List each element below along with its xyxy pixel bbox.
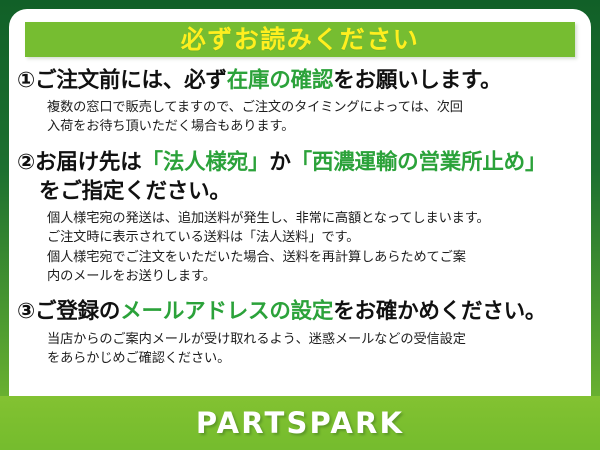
notice-item-2-heading: ②お届け先は「法人様宛」か「西濃運輸の営業所止め」 — [17, 148, 583, 177]
notice-item-2-heading-highlight-1: 「法人様宛」 — [142, 150, 270, 175]
notice-item-3-body-line-2: をあらかじめご確認ください。 — [47, 349, 583, 368]
notice-item-3-heading-part-1: ご登録の — [35, 299, 120, 324]
notice-item-3: ③ご登録のメールアドレスの設定をお確かめください。 当店からのご案内メールが受け… — [17, 297, 583, 368]
notice-item-2-heading-part-1: お届け先は — [35, 150, 142, 175]
notice-item-3-body: 当店からのご案内メールが受け取れるよう、迷惑メールなどの受信設定 をあらかじめご… — [17, 327, 583, 369]
notice-item-1-heading-highlight: 在庫の確認 — [227, 68, 334, 93]
notice-item-1-heading: ①ご注文前には、必ず在庫の確認をお願いします。 — [17, 66, 583, 95]
notice-item-3-heading: ③ご登録のメールアドレスの設定をお確かめください。 — [17, 297, 583, 326]
notice-item-2-heading-highlight-2: 「西濃運輸の営業所止め」 — [291, 150, 547, 175]
notice-item-2-body-line-2: ご注文時に表示されている送料は「法人送料」です。 — [47, 228, 583, 247]
header-bar: 必ずお読みください — [25, 22, 575, 57]
notice-item-1-body: 複数の窓口で販売してますので、ご注文のタイミングによっては、次回 入荷をお待ち頂… — [17, 95, 583, 137]
notice-item-2-body-line-1: 個人様宅宛の発送は、追加送料が発生し、非常に高額となってしまいます。 — [47, 209, 583, 228]
notice-card: 必ずお読みください ①ご注文前には、必ず在庫の確認をお願いします。 複数の窓口で… — [0, 0, 600, 450]
notice-item-1-body-line-2: 入荷をお待ち頂いただく場合もあります。 — [47, 117, 583, 136]
notice-item-3-body-line-1: 当店からのご案内メールが受け取れるよう、迷惑メールなどの受信設定 — [47, 330, 583, 349]
notice-item-3-marker: ③ — [17, 299, 35, 324]
notice-item-2-body-line-3: 個人様宅宛でご注文をいただいた場合、送料を再計算しあらためてご案 — [47, 248, 583, 267]
notice-item-3-heading-part-3: をお確かめください。 — [333, 299, 546, 324]
notice-item-1: ①ご注文前には、必ず在庫の確認をお願いします。 複数の窓口で販売してますので、ご… — [17, 66, 583, 137]
notice-item-1-body-line-1: 複数の窓口で販売してますので、ご注文のタイミングによっては、次回 — [47, 98, 583, 117]
notice-item-2-body: 個人様宅宛の発送は、追加送料が発生し、非常に高額となってしまいます。 ご注文時に… — [17, 206, 583, 287]
notice-item-1-heading-part-1: ご注文前には、必ず — [35, 68, 227, 93]
notice-item-2-heading-line-2: をご指定ください。 — [17, 177, 583, 206]
page-title: 必ずお読みください — [181, 27, 420, 52]
notice-body: ①ご注文前には、必ず在庫の確認をお願いします。 複数の窓口で販売してますので、ご… — [9, 64, 591, 370]
inner-white-panel: 必ずお読みください ①ご注文前には、必ず在庫の確認をお願いします。 複数の窓口で… — [9, 9, 591, 396]
notice-item-2-marker: ② — [17, 150, 35, 175]
footer-bar: PARTSPARK — [0, 396, 600, 450]
brand-logo-text: PARTSPARK — [196, 409, 404, 438]
notice-item-2-heading-part-3: か — [269, 150, 290, 175]
notice-item-2-body-line-4: 内のメールをお送りします。 — [47, 267, 583, 286]
notice-item-1-marker: ① — [17, 68, 35, 93]
notice-item-1-heading-part-3: をお願いします。 — [333, 68, 501, 93]
notice-item-2: ②お届け先は「法人様宛」か「西濃運輸の営業所止め」 をご指定ください。 個人様宅… — [17, 148, 583, 287]
notice-item-3-heading-highlight: メールアドレスの設定 — [120, 299, 333, 324]
